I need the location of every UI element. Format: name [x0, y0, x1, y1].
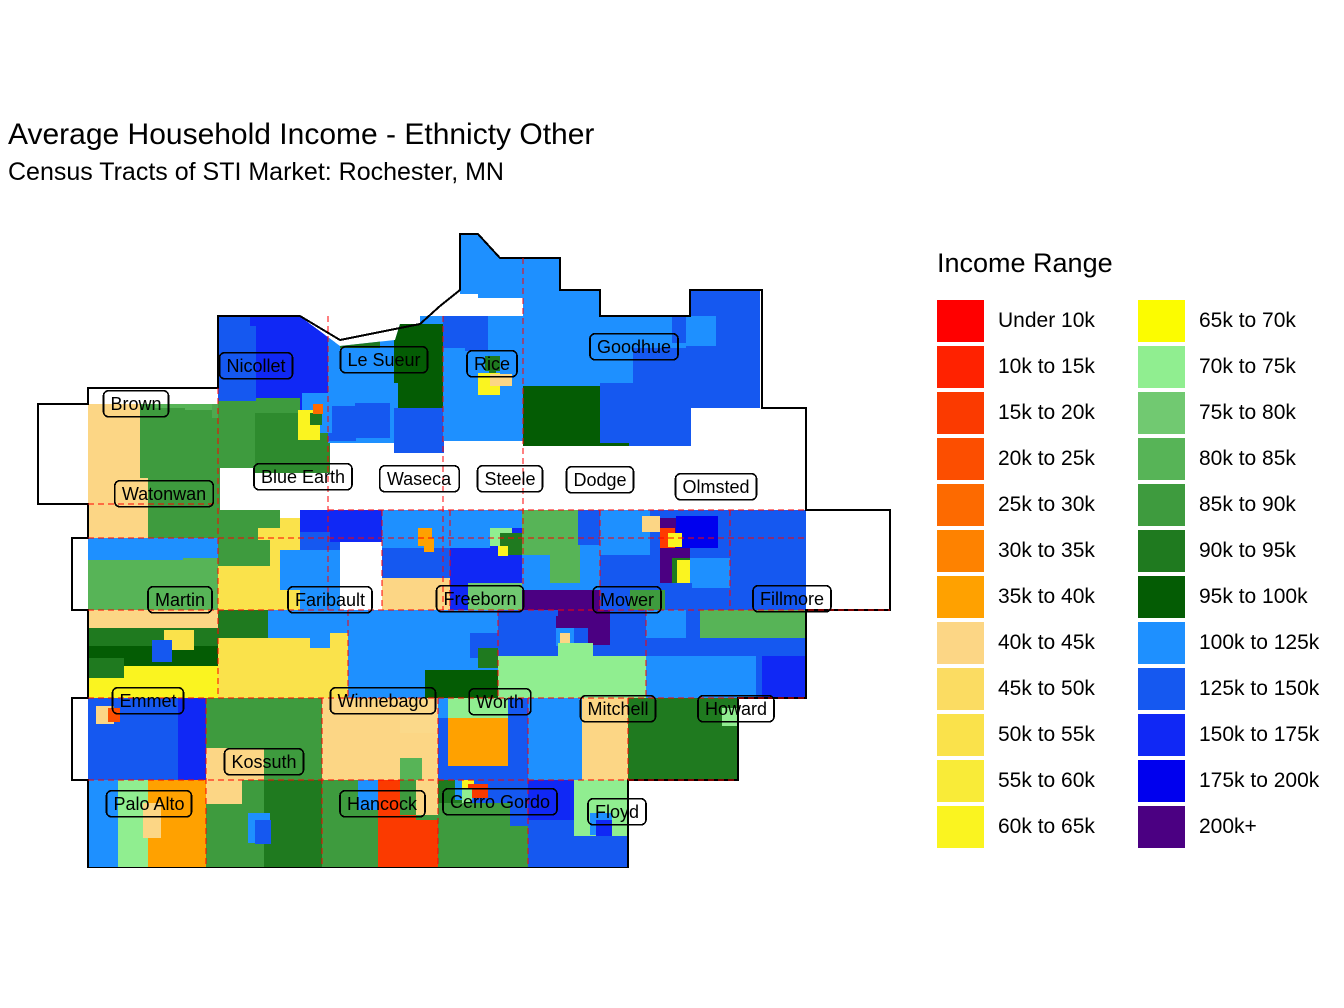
legend-item[interactable]: 10k to 15k: [937, 344, 1095, 390]
county-label-text: Watonwan: [122, 484, 206, 504]
county-label[interactable]: Floyd: [588, 799, 646, 825]
county-label-text: Floyd: [595, 802, 639, 822]
map-region-south-central: [88, 610, 806, 698]
legend-swatch: [1138, 576, 1185, 618]
legend-label: Under 10k: [998, 310, 1095, 332]
legend-swatch: [937, 530, 984, 572]
legend-item[interactable]: 80k to 85k: [1138, 436, 1319, 482]
legend-item[interactable]: 90k to 95k: [1138, 528, 1319, 574]
page-subtitle: Census Tracts of STI Market: Rochester, …: [8, 157, 594, 187]
legend-item[interactable]: 150k to 175k: [1138, 712, 1319, 758]
legend-swatch: [1138, 806, 1185, 848]
legend-label: 25k to 30k: [998, 494, 1095, 516]
legend-column-right: 65k to 70k70k to 75k75k to 80k80k to 85k…: [1138, 298, 1319, 850]
legend-label: 150k to 175k: [1199, 724, 1319, 746]
legend-label: 55k to 60k: [998, 770, 1095, 792]
legend-item[interactable]: Under 10k: [937, 298, 1095, 344]
legend-item[interactable]: 100k to 125k: [1138, 620, 1319, 666]
county-label[interactable]: Hancock: [340, 791, 425, 817]
legend-item[interactable]: 20k to 25k: [937, 436, 1095, 482]
county-label[interactable]: Fillmore: [753, 586, 831, 612]
legend-label: 30k to 35k: [998, 540, 1095, 562]
county-label-text: Dodge: [573, 470, 626, 490]
legend-swatch: [937, 668, 984, 710]
legend-label: 50k to 55k: [998, 724, 1095, 746]
legend-item[interactable]: 60k to 65k: [937, 804, 1095, 850]
legend-swatch: [937, 714, 984, 756]
county-label[interactable]: Mower: [593, 587, 661, 613]
legend-item[interactable]: 55k to 60k: [937, 758, 1095, 804]
legend-label: 100k to 125k: [1199, 632, 1319, 654]
county-label[interactable]: Cerro Gordo: [443, 789, 557, 815]
county-label-text: Freeborn: [443, 589, 516, 609]
legend-swatch: [937, 760, 984, 802]
county-label[interactable]: Goodhue: [590, 334, 678, 360]
county-label-text: Le Sueur: [347, 350, 420, 370]
map-page: Average Household Income - Ethnicty Othe…: [0, 0, 1344, 1008]
county-label[interactable]: Martin: [148, 587, 212, 613]
county-label[interactable]: Le Sueur: [340, 347, 427, 373]
legend-swatch: [1138, 346, 1185, 388]
legend-swatch: [1138, 714, 1185, 756]
legend-label: 85k to 90k: [1199, 494, 1296, 516]
county-label[interactable]: Freeborn: [436, 586, 523, 612]
county-label-text: Olmsted: [682, 477, 749, 497]
county-label-text: Mower: [600, 590, 654, 610]
county-label[interactable]: Emmet: [112, 688, 183, 714]
county-label[interactable]: Watonwan: [115, 481, 213, 507]
legend-swatch: [1138, 668, 1185, 710]
county-label-text: Martin: [155, 590, 205, 610]
county-label-text: Steele: [484, 469, 535, 489]
county-label-text: Mitchell: [587, 699, 648, 719]
legend-swatch: [1138, 438, 1185, 480]
county-label-text: Blue Earth: [261, 467, 345, 487]
legend-item[interactable]: 65k to 70k: [1138, 298, 1319, 344]
legend-swatch: [937, 392, 984, 434]
county-label-text: Kossuth: [231, 752, 296, 772]
county-label[interactable]: Winnebago: [330, 688, 435, 714]
legend-label: 15k to 20k: [998, 402, 1095, 424]
legend-item[interactable]: 175k to 200k: [1138, 758, 1319, 804]
legend-item[interactable]: 15k to 20k: [937, 390, 1095, 436]
legend-swatch: [937, 438, 984, 480]
county-label[interactable]: Mitchell: [580, 696, 655, 722]
legend-swatch: [937, 346, 984, 388]
county-label-text: Fillmore: [760, 589, 824, 609]
legend-panel: Income Range Under 10k10k to 15k15k to 2…: [925, 248, 1344, 858]
legend-swatch: [937, 806, 984, 848]
legend-label: 200k+: [1199, 816, 1257, 838]
legend-swatch: [1138, 392, 1185, 434]
county-label-text: Worth: [476, 692, 524, 712]
legend-swatch: [1138, 300, 1185, 342]
county-label-text: Winnebago: [337, 691, 428, 711]
county-label[interactable]: Waseca: [380, 466, 459, 492]
county-label-text: Waseca: [387, 469, 452, 489]
county-label[interactable]: Worth: [469, 689, 531, 715]
legend-title: Income Range: [937, 248, 1113, 278]
legend-swatch: [937, 300, 984, 342]
county-label-text: Brown: [110, 394, 161, 414]
legend-item[interactable]: 30k to 35k: [937, 528, 1095, 574]
county-label-text: Emmet: [119, 691, 176, 711]
legend-label: 60k to 65k: [998, 816, 1095, 838]
county-label-text: Palo Alto: [113, 794, 184, 814]
title-block: Average Household Income - Ethnicty Othe…: [8, 118, 594, 187]
choropleth-map[interactable]: BrownNicolletLe SueurRiceGoodhueWatonwan…: [0, 228, 910, 868]
legend-item[interactable]: 85k to 90k: [1138, 482, 1319, 528]
legend-label: 90k to 95k: [1199, 540, 1296, 562]
legend-item[interactable]: 200k+: [1138, 804, 1319, 850]
legend-column-left: Under 10k10k to 15k15k to 20k20k to 25k2…: [937, 298, 1095, 850]
county-label[interactable]: Nicollet: [219, 353, 292, 379]
legend-swatch: [1138, 760, 1185, 802]
county-label[interactable]: Kossuth: [224, 749, 303, 775]
legend-swatch: [937, 576, 984, 618]
county-label[interactable]: Dodge: [566, 467, 633, 493]
legend-label: 175k to 200k: [1199, 770, 1319, 792]
legend-label: 40k to 45k: [998, 632, 1095, 654]
legend-item[interactable]: 25k to 30k: [937, 482, 1095, 528]
county-label[interactable]: Olmsted: [675, 474, 756, 500]
legend-label: 45k to 50k: [998, 678, 1095, 700]
county-label[interactable]: Steele: [477, 466, 542, 492]
county-label-text: Nicollet: [226, 356, 285, 376]
legend-label: 65k to 70k: [1199, 310, 1296, 332]
legend-label: 70k to 75k: [1199, 356, 1296, 378]
legend-item[interactable]: 75k to 80k: [1138, 390, 1319, 436]
legend-swatch: [1138, 622, 1185, 664]
legend-item[interactable]: 95k to 100k: [1138, 574, 1319, 620]
legend-swatch: [937, 622, 984, 664]
legend-label: 20k to 25k: [998, 448, 1095, 470]
legend-label: 125k to 150k: [1199, 678, 1319, 700]
legend-item[interactable]: 45k to 50k: [937, 666, 1095, 712]
legend-item[interactable]: 50k to 55k: [937, 712, 1095, 758]
legend-item[interactable]: 35k to 40k: [937, 574, 1095, 620]
legend-item[interactable]: 70k to 75k: [1138, 344, 1319, 390]
county-label-text: Goodhue: [597, 337, 671, 357]
county-label-text: Rice: [474, 354, 510, 374]
legend-item[interactable]: 125k to 150k: [1138, 666, 1319, 712]
legend-label: 10k to 15k: [998, 356, 1095, 378]
county-label[interactable]: Rice: [467, 351, 517, 377]
legend-label: 35k to 40k: [998, 586, 1095, 608]
county-label[interactable]: Brown: [103, 391, 168, 417]
county-label[interactable]: Palo Alto: [106, 791, 191, 817]
legend-label: 80k to 85k: [1199, 448, 1296, 470]
county-label-text: Howard: [705, 699, 767, 719]
legend-swatch: [1138, 484, 1185, 526]
county-label-text: Faribault: [295, 590, 365, 610]
page-title: Average Household Income - Ethnicty Othe…: [8, 118, 594, 152]
county-label[interactable]: Howard: [698, 696, 774, 722]
county-label[interactable]: Blue Earth: [254, 464, 352, 490]
legend-swatch: [937, 484, 984, 526]
county-label[interactable]: Faribault: [288, 587, 372, 613]
county-label-text: Hancock: [347, 794, 418, 814]
legend-swatch: [1138, 530, 1185, 572]
legend-item[interactable]: 40k to 45k: [937, 620, 1095, 666]
legend-label: 95k to 100k: [1199, 586, 1308, 608]
legend-label: 75k to 80k: [1199, 402, 1296, 424]
county-label-text: Cerro Gordo: [450, 792, 550, 812]
